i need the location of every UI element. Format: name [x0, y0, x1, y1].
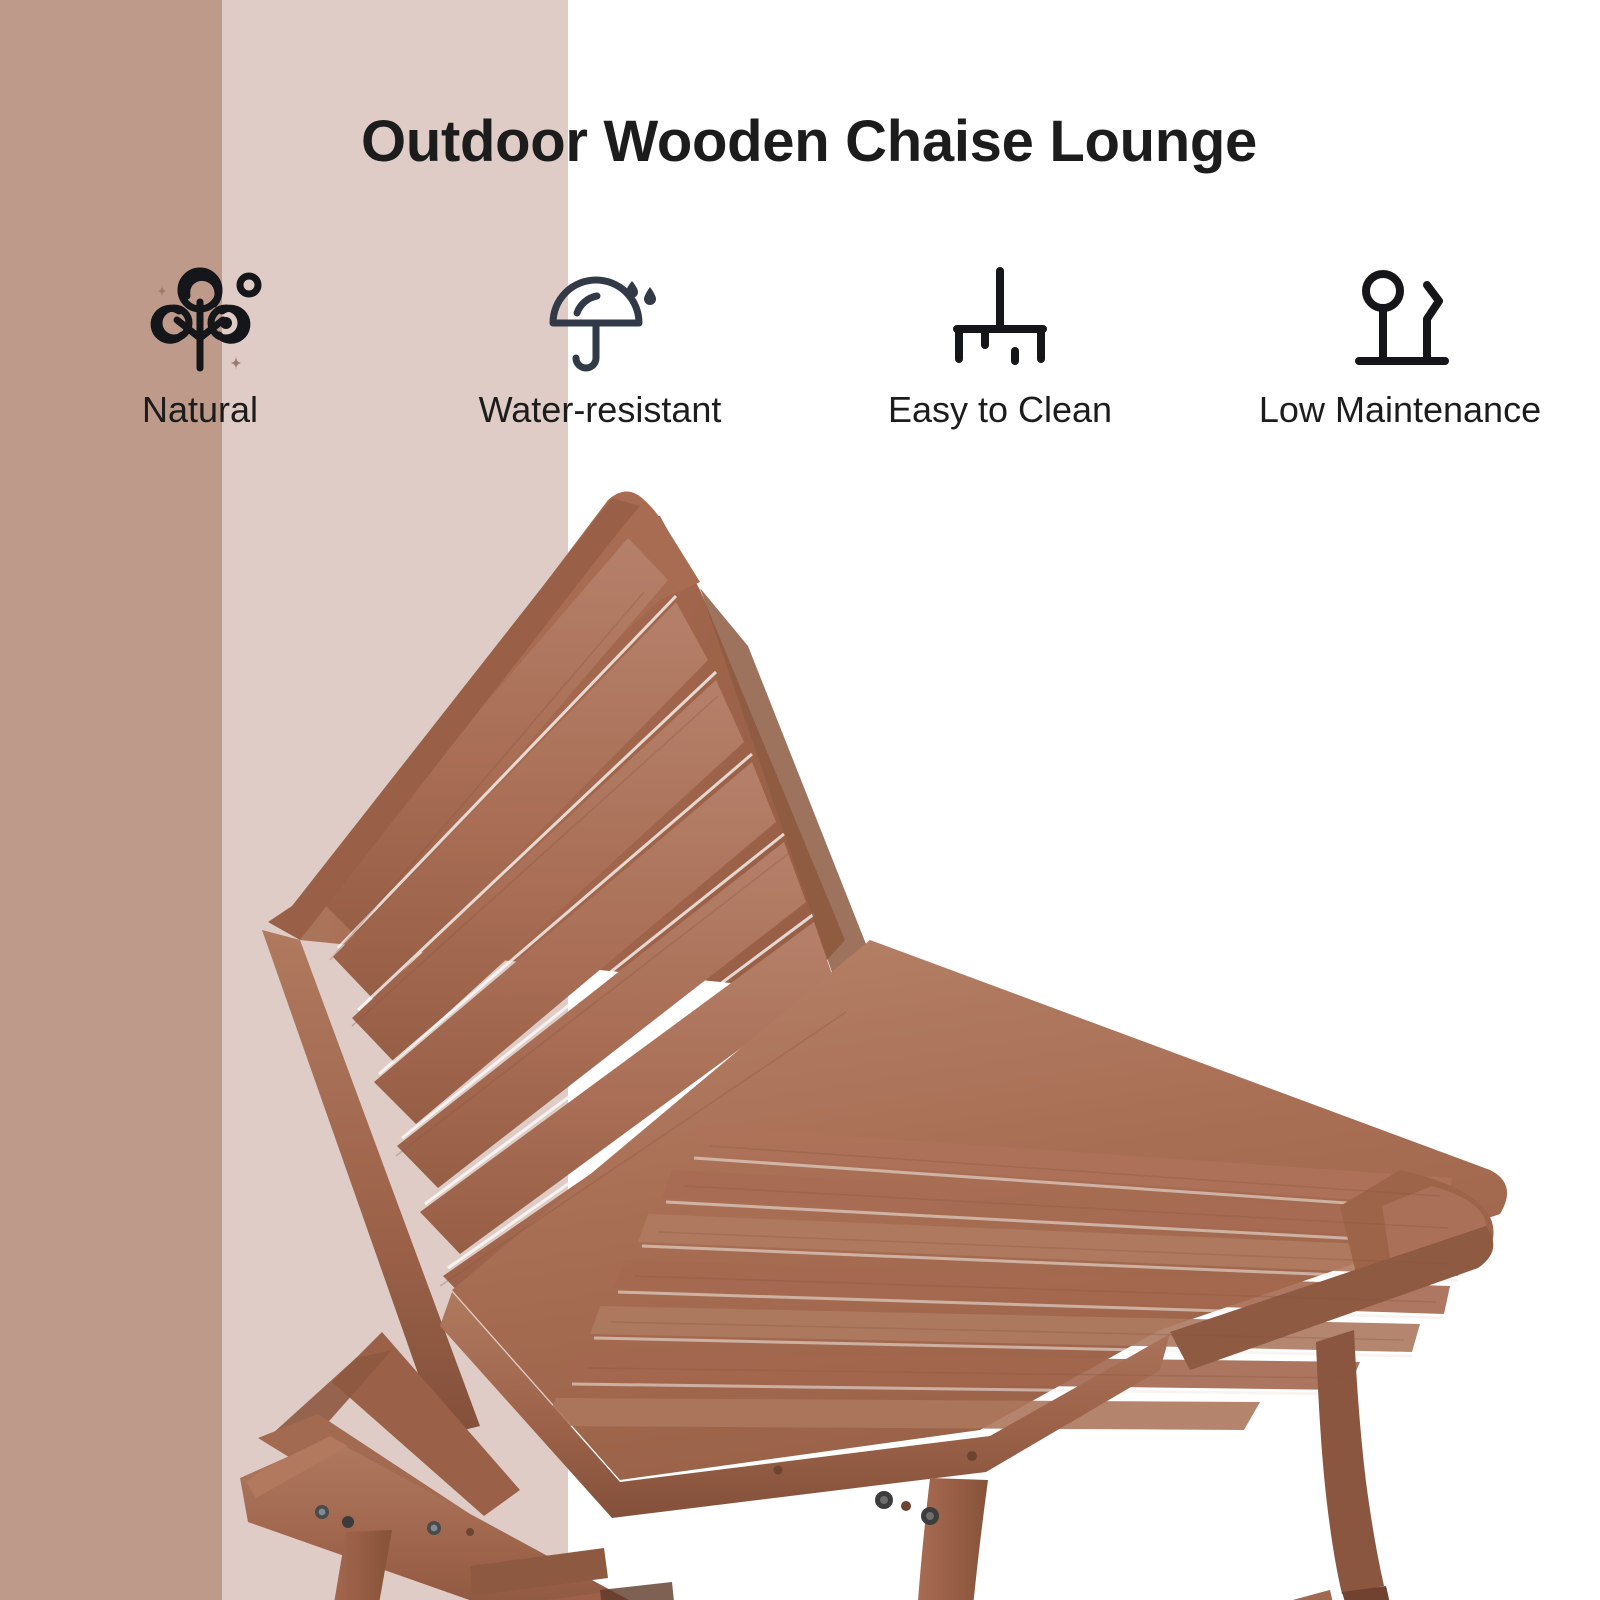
chaise-lounge-illustration [0, 470, 1600, 1600]
feature-item-water-resistant: Water-resistant [400, 250, 800, 490]
page-title: Outdoor Wooden Chaise Lounge [0, 108, 1600, 175]
feature-label: Low Maintenance [1259, 392, 1541, 428]
feature-item-low-maintenance: Low Maintenance [1200, 250, 1600, 490]
leg-stretcher [938, 1590, 1338, 1600]
garden-tools-icon [1335, 250, 1465, 380]
feature-list: Natural Water-resistant [0, 250, 1600, 490]
feature-label: Easy to Clean [888, 392, 1112, 428]
screw [342, 1516, 354, 1528]
feature-item-natural: Natural [0, 250, 400, 490]
broom-icon [935, 250, 1065, 380]
feature-label: Water-resistant [479, 392, 722, 428]
umbrella-icon [535, 250, 665, 380]
feature-label: Natural [142, 392, 258, 428]
product-image [0, 470, 1600, 1600]
feature-item-easy-to-clean: Easy to Clean [800, 250, 1200, 490]
tree-icon [130, 250, 270, 380]
product-infographic: Outdoor Wooden Chaise Lounge [0, 0, 1600, 1600]
